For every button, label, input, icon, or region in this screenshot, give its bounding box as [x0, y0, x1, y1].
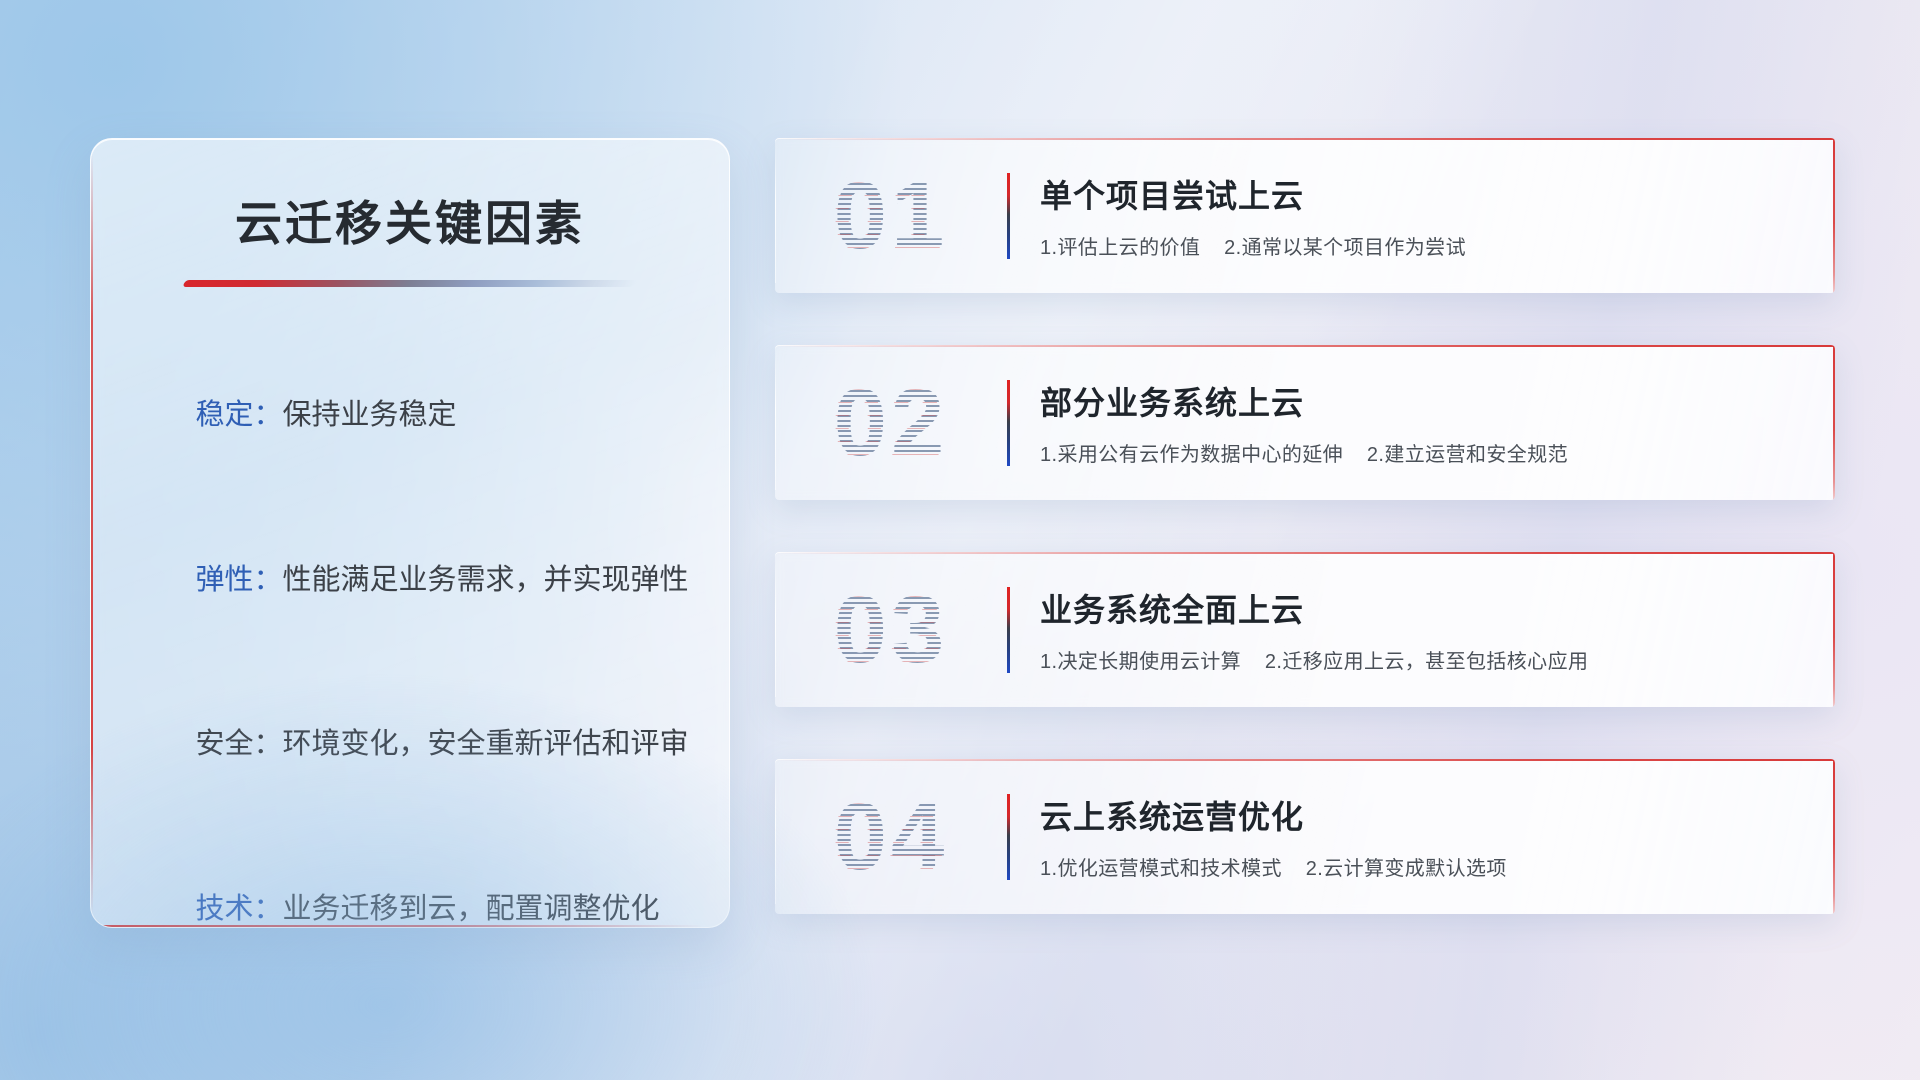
panel-bottom-accent-line [101, 925, 703, 927]
factor-label: 安全： [195, 728, 282, 760]
step-divider-line [1007, 587, 1010, 673]
step-subtitle: 1.优化运营模式和技术模式 2.云计算变成默认选项 [1040, 852, 1809, 881]
step-number-02: 02 [775, 375, 1007, 471]
key-factors-list: 稳定：保持业务稳定 弹性：性能满足业务需求，并实现弹性 安全：环境变化，安全重新… [91, 351, 729, 928]
factor-label: 技术： [195, 893, 282, 925]
factor-text: 业务迁移到云，配置调整优化 [282, 893, 659, 925]
list-item: 安全：环境变化，安全重新评估和评审 [131, 680, 695, 809]
factor-text: 环境变化，安全重新评估和评审 [282, 728, 688, 760]
step-content-01: 单个项目尝试上云 1.评估上云的价值 2.通常以某个项目作为尝试 [1040, 171, 1835, 260]
card-top-accent-line [775, 552, 1835, 554]
factor-text: 保持业务稳定 [282, 399, 456, 431]
step-number-04: 04 [775, 789, 1007, 885]
step-subtitle: 1.决定长期使用云计算 2.迁移应用上云，甚至包括核心应用 [1040, 645, 1809, 674]
list-item: 技术：业务迁移到云，配置调整优化 [131, 845, 695, 928]
panel-left-accent-line [91, 153, 93, 915]
card-top-accent-line [775, 759, 1835, 761]
step-number-glyph: 02 [834, 375, 949, 471]
card-right-accent-line [1833, 138, 1835, 293]
card-right-accent-line [1833, 759, 1835, 914]
step-title: 单个项目尝试上云 [1040, 171, 1809, 217]
list-item: 弹性：性能满足业务需求，并实现弹性 [131, 516, 695, 645]
step-subtitle: 1.评估上云的价值 2.通常以某个项目作为尝试 [1040, 231, 1809, 260]
step-card-01[interactable]: 01 单个项目尝试上云 1.评估上云的价值 2.通常以某个项目作为尝试 [775, 138, 1835, 293]
card-top-accent-line [775, 345, 1835, 347]
step-title: 部分业务系统上云 [1040, 378, 1809, 424]
factor-label: 稳定： [195, 399, 282, 431]
factor-text: 性能满足业务需求，并实现弹性 [282, 564, 688, 596]
step-number-glyph: 01 [834, 168, 949, 264]
page-title: 云迁移关键因素 [91, 185, 729, 254]
step-divider-line [1007, 173, 1010, 259]
step-divider-line [1007, 380, 1010, 466]
migration-steps-list: 01 单个项目尝试上云 1.评估上云的价值 2.通常以某个项目作为尝试 02 部… [775, 138, 1835, 914]
step-number-glyph: 03 [834, 582, 949, 678]
step-content-03: 业务系统全面上云 1.决定长期使用云计算 2.迁移应用上云，甚至包括核心应用 [1040, 585, 1835, 674]
title-underline-rule [182, 280, 637, 287]
slide-canvas: 云迁移关键因素 稳定：保持业务稳定 弹性：性能满足业务需求，并实现弹性 安全：环… [0, 0, 1920, 1080]
card-right-accent-line [1833, 552, 1835, 707]
card-right-accent-line [1833, 345, 1835, 500]
step-content-02: 部分业务系统上云 1.采用公有云作为数据中心的延伸 2.建立运营和安全规范 [1040, 378, 1835, 467]
list-item: 稳定：保持业务稳定 [131, 351, 695, 480]
step-number-01: 01 [775, 168, 1007, 264]
step-content-04: 云上系统运营优化 1.优化运营模式和技术模式 2.云计算变成默认选项 [1040, 792, 1835, 881]
step-number-glyph: 04 [834, 789, 949, 885]
step-number-03: 03 [775, 582, 1007, 678]
card-top-accent-line [775, 138, 1835, 140]
factor-label: 弹性： [195, 564, 282, 596]
step-title: 业务系统全面上云 [1040, 585, 1809, 631]
step-divider-line [1007, 794, 1010, 880]
step-card-04[interactable]: 04 云上系统运营优化 1.优化运营模式和技术模式 2.云计算变成默认选项 [775, 759, 1835, 914]
step-card-03[interactable]: 03 业务系统全面上云 1.决定长期使用云计算 2.迁移应用上云，甚至包括核心应… [775, 552, 1835, 707]
step-subtitle: 1.采用公有云作为数据中心的延伸 2.建立运营和安全规范 [1040, 438, 1809, 467]
key-factors-panel: 云迁移关键因素 稳定：保持业务稳定 弹性：性能满足业务需求，并实现弹性 安全：环… [90, 138, 730, 928]
step-title: 云上系统运营优化 [1040, 792, 1809, 838]
step-card-02[interactable]: 02 部分业务系统上云 1.采用公有云作为数据中心的延伸 2.建立运营和安全规范 [775, 345, 1835, 500]
